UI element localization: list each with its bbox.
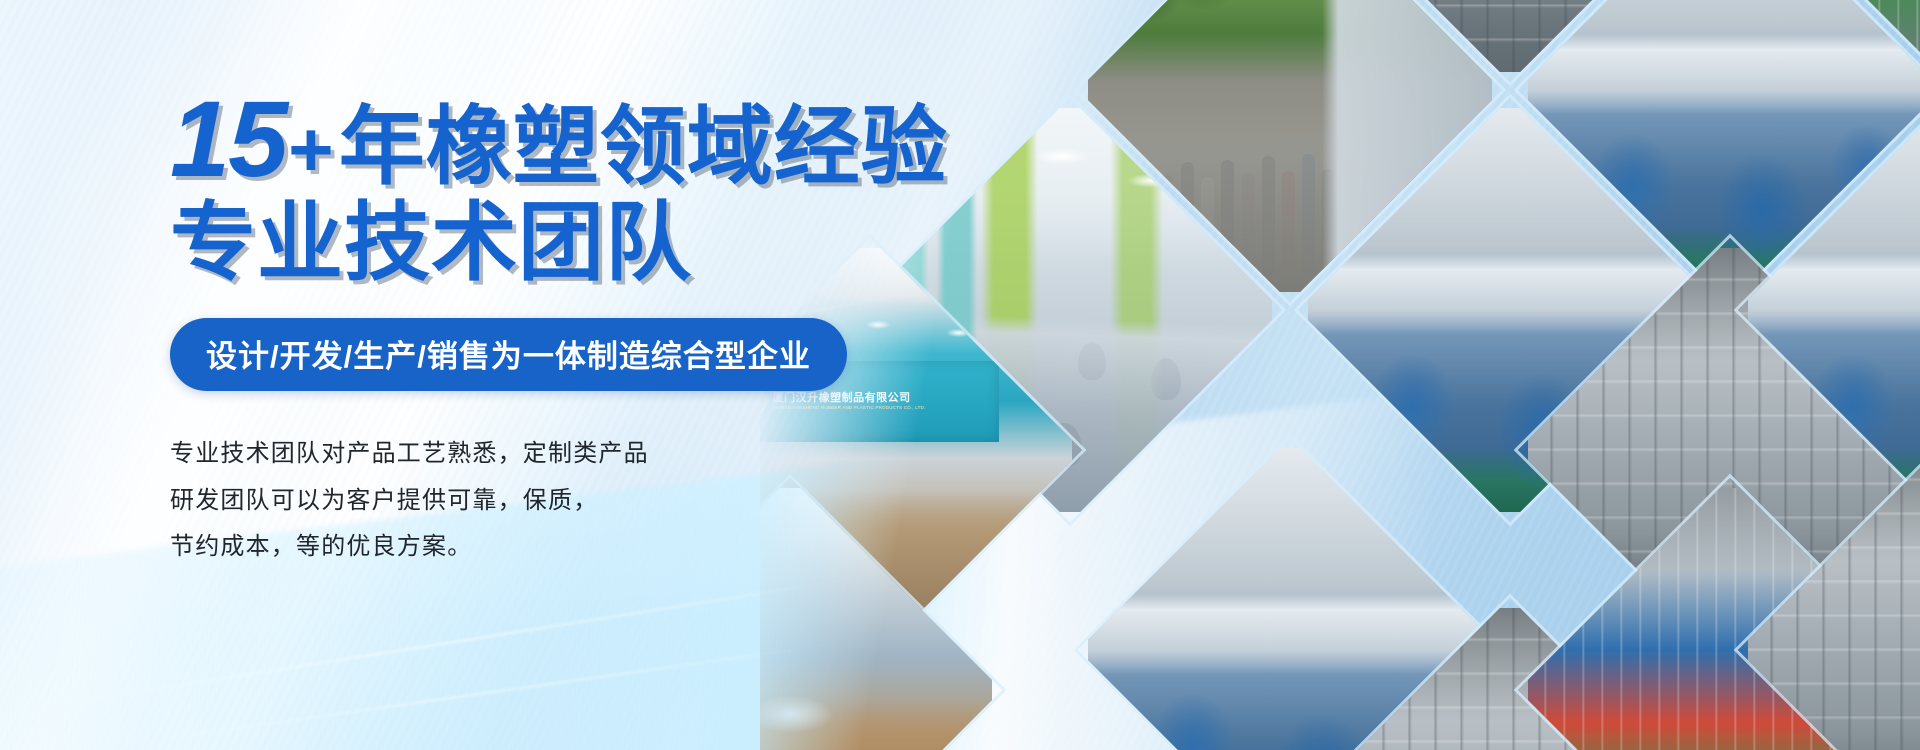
description-line-2: 研发团队可以为客户提供可靠，保质， xyxy=(170,478,910,525)
tagline-pill: 设计/开发/生产/销售为一体制造综合型企业 xyxy=(170,318,847,391)
headline-line-1-text: 年橡塑领域经验 xyxy=(339,99,948,195)
description-paragraph: 专业技术团队对产品工艺熟悉，定制类产品 研发团队可以为客户提供可靠，保质， 节约… xyxy=(170,431,910,571)
headline-plus-sign: + xyxy=(288,105,335,193)
description-line-3: 节约成本，等的优良方案。 xyxy=(170,524,910,571)
headline-years-number: 15 xyxy=(170,78,286,199)
headline-line-1: 15+年橡塑领域经验 xyxy=(170,84,910,194)
promo-banner: HS 厦门汉升橡塑制品有限公司 XIAMEN HANSHENG RUBBER A… xyxy=(0,0,1920,750)
banner-copy: 15+年橡塑领域经验 专业技术团队 设计/开发/生产/销售为一体制造综合型企业 … xyxy=(170,84,910,571)
description-line-1: 专业技术团队对产品工艺熟悉，定制类产品 xyxy=(170,431,910,478)
headline-line-2: 专业技术团队 xyxy=(170,200,910,288)
